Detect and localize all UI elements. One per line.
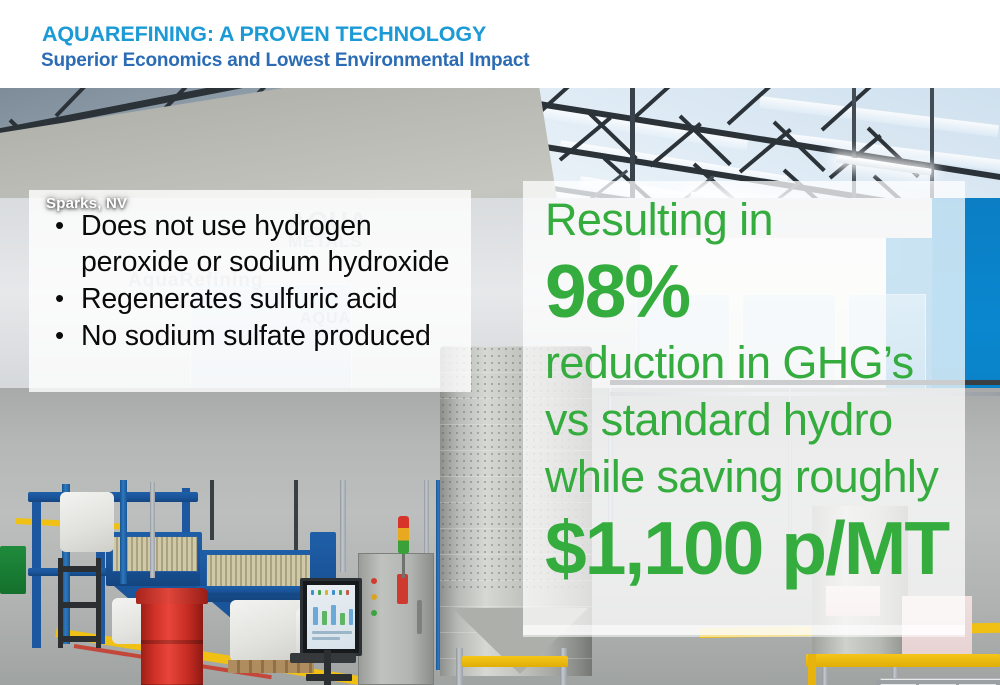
yellow-guard (462, 656, 568, 667)
stat-line-reduction: reduction in GHG’s (545, 334, 957, 391)
hmi-monitor (300, 578, 362, 656)
andon-stack-light (398, 516, 409, 554)
page-subtitle: Superior Economics and Lowest Environmen… (41, 50, 529, 72)
stat-callout: Resulting in 98% reduction in GHG’s vs s… (523, 181, 965, 635)
wall-equipment-box (0, 546, 26, 594)
stack-light-pole (402, 554, 405, 578)
slide: AQUAREFINING: A PROVEN TECHNOLOGY Superi… (0, 0, 1000, 685)
stat-line-baseline: vs standard hydro (545, 391, 957, 448)
guard-rail-post (808, 654, 816, 685)
stat-callout-content: Resulting in 98% reduction in GHG’s vs s… (545, 191, 957, 591)
red-drum-band (141, 640, 203, 644)
location-label: Sparks, NV (46, 195, 127, 212)
cabinet-indicator (371, 610, 377, 616)
yellow-guard-rail (806, 654, 1000, 667)
stat-value-saving: $1,100 p/MT (545, 505, 957, 591)
stat-line-intro: Resulting in (545, 191, 957, 248)
hmi-screen (307, 585, 355, 649)
list-item: Regenerates sulfuric acid (51, 281, 461, 317)
slide-header: AQUAREFINING: A PROVEN TECHNOLOGY Superi… (0, 0, 1000, 88)
cabinet-handle (417, 600, 422, 634)
process-pipe (150, 482, 155, 578)
stat-line-saving: while saving roughly (545, 448, 957, 505)
benefits-list: Does not use hydrogen peroxide or sodium… (29, 190, 471, 354)
tool-cart-shelf (58, 602, 100, 608)
crate-railing (876, 680, 880, 685)
tool-cart-post (58, 558, 63, 648)
stat-value-ghg: 98% (545, 248, 957, 334)
electrical-conduit (210, 480, 214, 540)
tool-cart-post (96, 558, 101, 648)
red-drum-lid (136, 588, 208, 604)
cabinet-indicator (371, 578, 377, 584)
list-item: No sodium sulfate produced (51, 318, 461, 354)
tool-cart-shelf (58, 566, 100, 572)
process-pipe (340, 480, 346, 572)
bulk-bag (60, 492, 114, 552)
benefits-callout: Does not use hydrogen peroxide or sodium… (29, 190, 471, 392)
tool-cart-shelf (58, 636, 100, 642)
cart-shelf (306, 674, 352, 681)
page-title: AQUAREFINING: A PROVEN TECHNOLOGY (42, 22, 486, 47)
control-cabinet (358, 553, 434, 685)
frame-upright (120, 480, 127, 584)
crate-railing (876, 680, 1000, 684)
electrical-conduit (294, 480, 298, 550)
cabinet-indicator (371, 594, 377, 600)
cabinet-estop (397, 574, 408, 604)
list-item: Does not use hydrogen peroxide or sodium… (51, 208, 461, 280)
cart-keyboard-tray (290, 653, 356, 663)
